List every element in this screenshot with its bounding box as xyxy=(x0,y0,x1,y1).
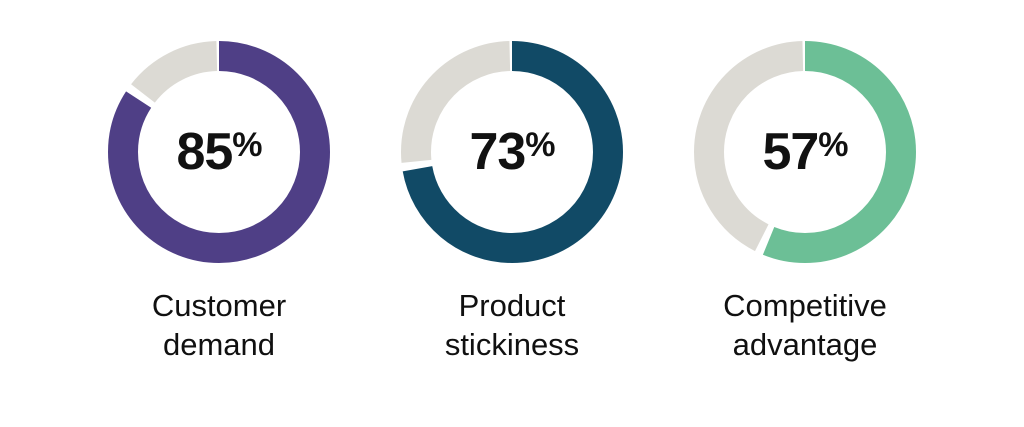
donut-chart-customer-demand: 85% xyxy=(108,41,330,263)
gauge-label-customer-demand: Customer demand xyxy=(152,287,286,365)
gauge-card-customer-demand: 85% Customer demand xyxy=(73,0,366,365)
gauge-label-line2: stickiness xyxy=(445,326,579,365)
gauge-card-competitive-advantage: 57% Competitive advantage xyxy=(659,0,952,365)
gauge-label-line1: Competitive xyxy=(723,287,887,326)
gauge-label-line1: Customer xyxy=(152,287,286,326)
gauge-label-competitive-advantage: Competitive advantage xyxy=(723,287,887,365)
donut-gauge-board: 85% Customer demand 73% Product stickine… xyxy=(0,0,1024,427)
gauge-label-line2: advantage xyxy=(723,326,887,365)
gauge-label-line1: Product xyxy=(445,287,579,326)
donut-svg-product-stickiness xyxy=(401,41,623,263)
gauge-label-product-stickiness: Product stickiness xyxy=(445,287,579,365)
gauge-card-product-stickiness: 73% Product stickiness xyxy=(366,0,659,365)
gauge-label-line2: demand xyxy=(152,326,286,365)
donut-svg-competitive-advantage xyxy=(694,41,916,263)
donut-chart-competitive-advantage: 57% xyxy=(694,41,916,263)
donut-svg-customer-demand xyxy=(108,41,330,263)
donut-chart-product-stickiness: 73% xyxy=(401,41,623,263)
